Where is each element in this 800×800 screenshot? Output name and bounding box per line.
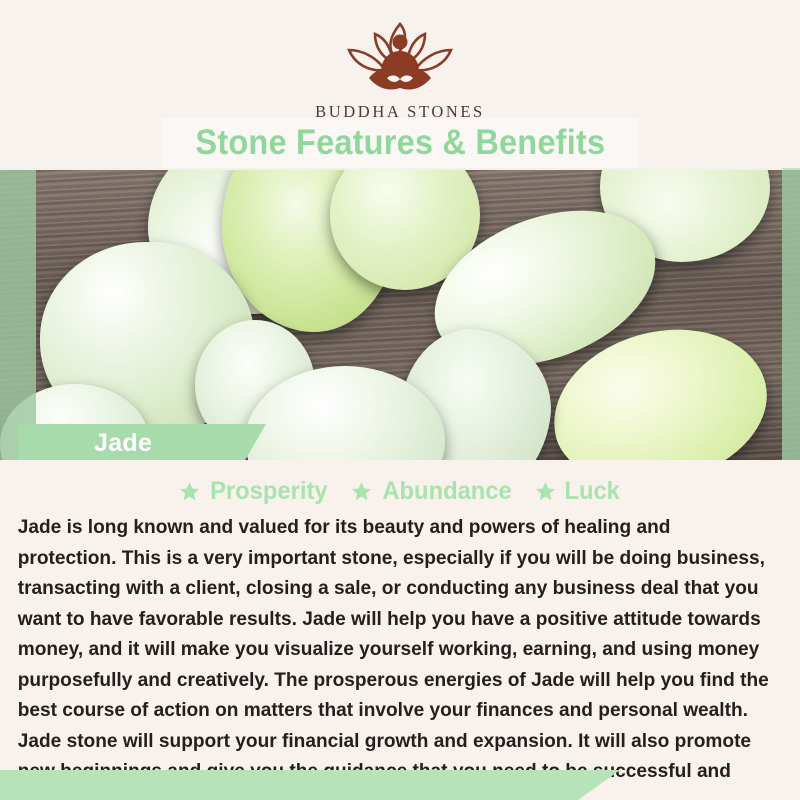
stone-description: Jade is long known and valued for its be… — [0, 512, 788, 800]
content-panel: Prosperity Abundance Luck Jade is long k… — [0, 460, 800, 800]
stone-name: Jade — [94, 429, 152, 458]
benefit-item: Luck — [535, 477, 621, 506]
benefit-label: Abundance — [382, 477, 511, 506]
star-icon — [535, 481, 556, 502]
benefit-item: Abundance — [351, 477, 515, 506]
lotus-meditation-icon — [325, 18, 475, 96]
benefit-label: Prosperity — [210, 477, 327, 506]
benefit-item: Prosperity — [179, 477, 331, 506]
stone-name-banner: Jade — [18, 424, 266, 462]
benefit-label: Luck — [564, 477, 619, 506]
stone-photo — [0, 170, 800, 460]
benefits-list: Prosperity Abundance Luck — [0, 460, 800, 506]
star-icon — [179, 481, 200, 502]
decor-frame-right-band — [782, 170, 800, 460]
infographic-card: BUDDHA STONES Stone Features & Benefits … — [0, 0, 800, 800]
star-icon — [351, 481, 372, 502]
page-title: Stone Features & Benefits — [195, 123, 605, 163]
decor-bottom-band — [0, 770, 620, 800]
title-banner: Stone Features & Benefits — [162, 118, 638, 168]
decor-frame-left-band — [0, 170, 36, 460]
